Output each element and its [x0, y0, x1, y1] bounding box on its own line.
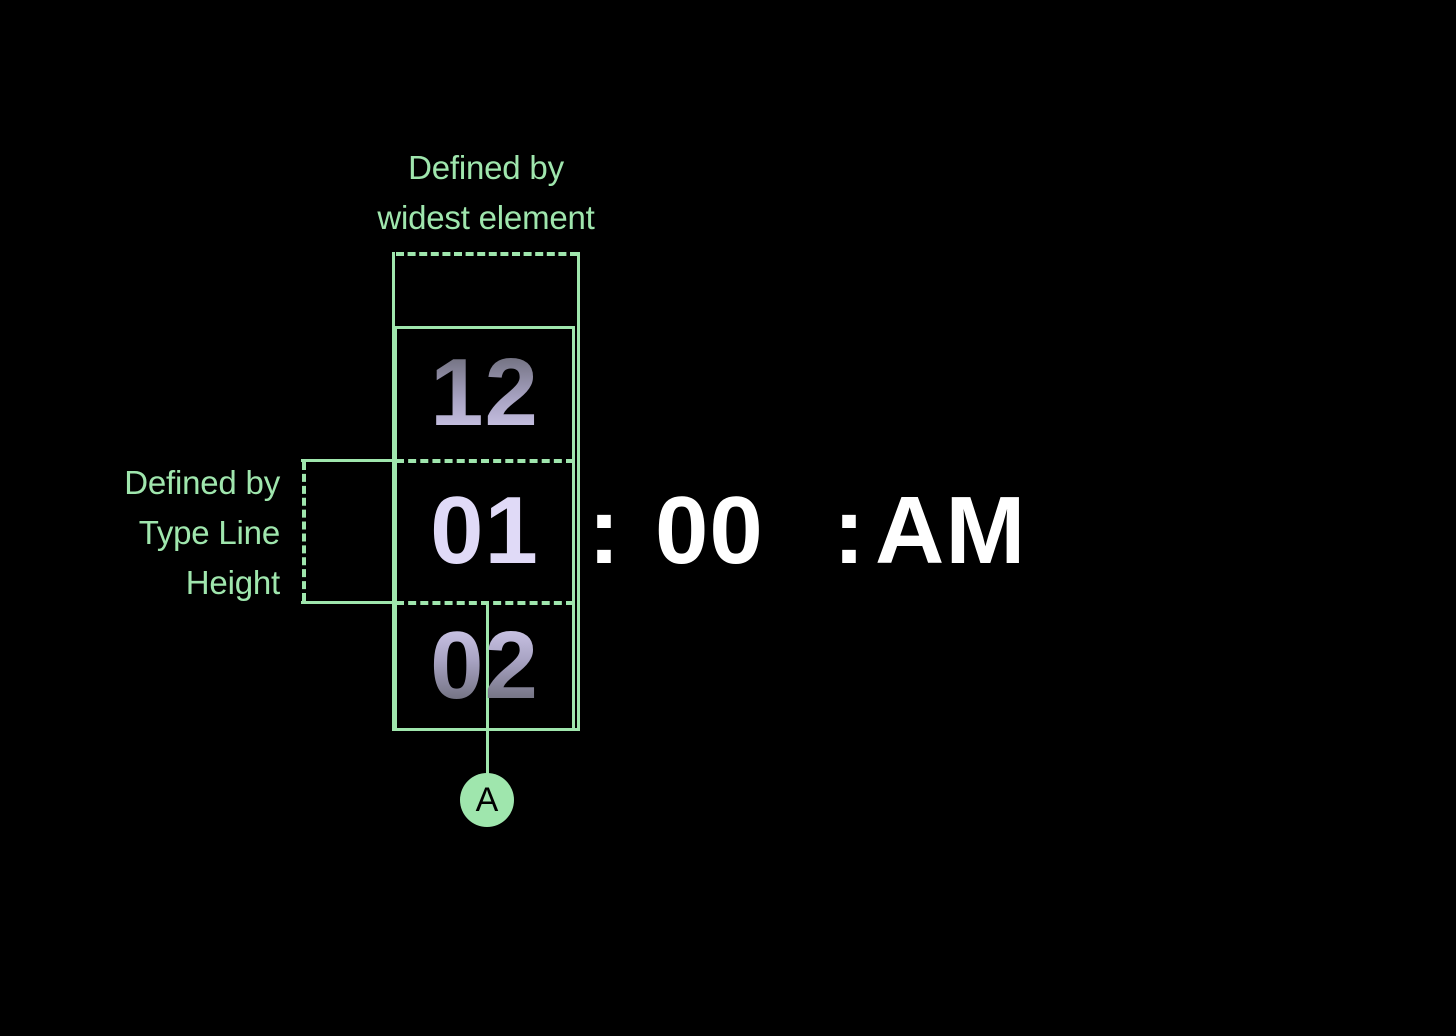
time-separator-hours-minutes: : [588, 461, 621, 601]
line-height-annotation-label: Defined by Type Line Height [8, 458, 280, 608]
hour-wheel-selected-value[interactable]: 01 [394, 461, 575, 601]
spec-diagram-canvas: Defined by widest element Defined by Typ… [0, 0, 1456, 1036]
dimension-bracket-top-arm [301, 459, 394, 462]
hour-wheel-previous-value[interactable]: 12 [394, 327, 575, 459]
outer-box-right-guide [577, 252, 580, 731]
outer-box-top-dashed-guide [396, 252, 578, 256]
meridiem-value[interactable]: AM [875, 461, 1026, 601]
dimension-bracket-dashed-span [302, 462, 306, 601]
callout-marker-a: A [460, 773, 514, 827]
time-separator-minutes-meridiem: : [833, 461, 866, 601]
minutes-value[interactable]: 00 [655, 461, 764, 601]
width-annotation-label: Defined by widest element [256, 143, 716, 243]
dimension-bracket-bottom-arm [301, 601, 394, 604]
hour-wheel-next-value[interactable]: 02 [394, 603, 575, 729]
